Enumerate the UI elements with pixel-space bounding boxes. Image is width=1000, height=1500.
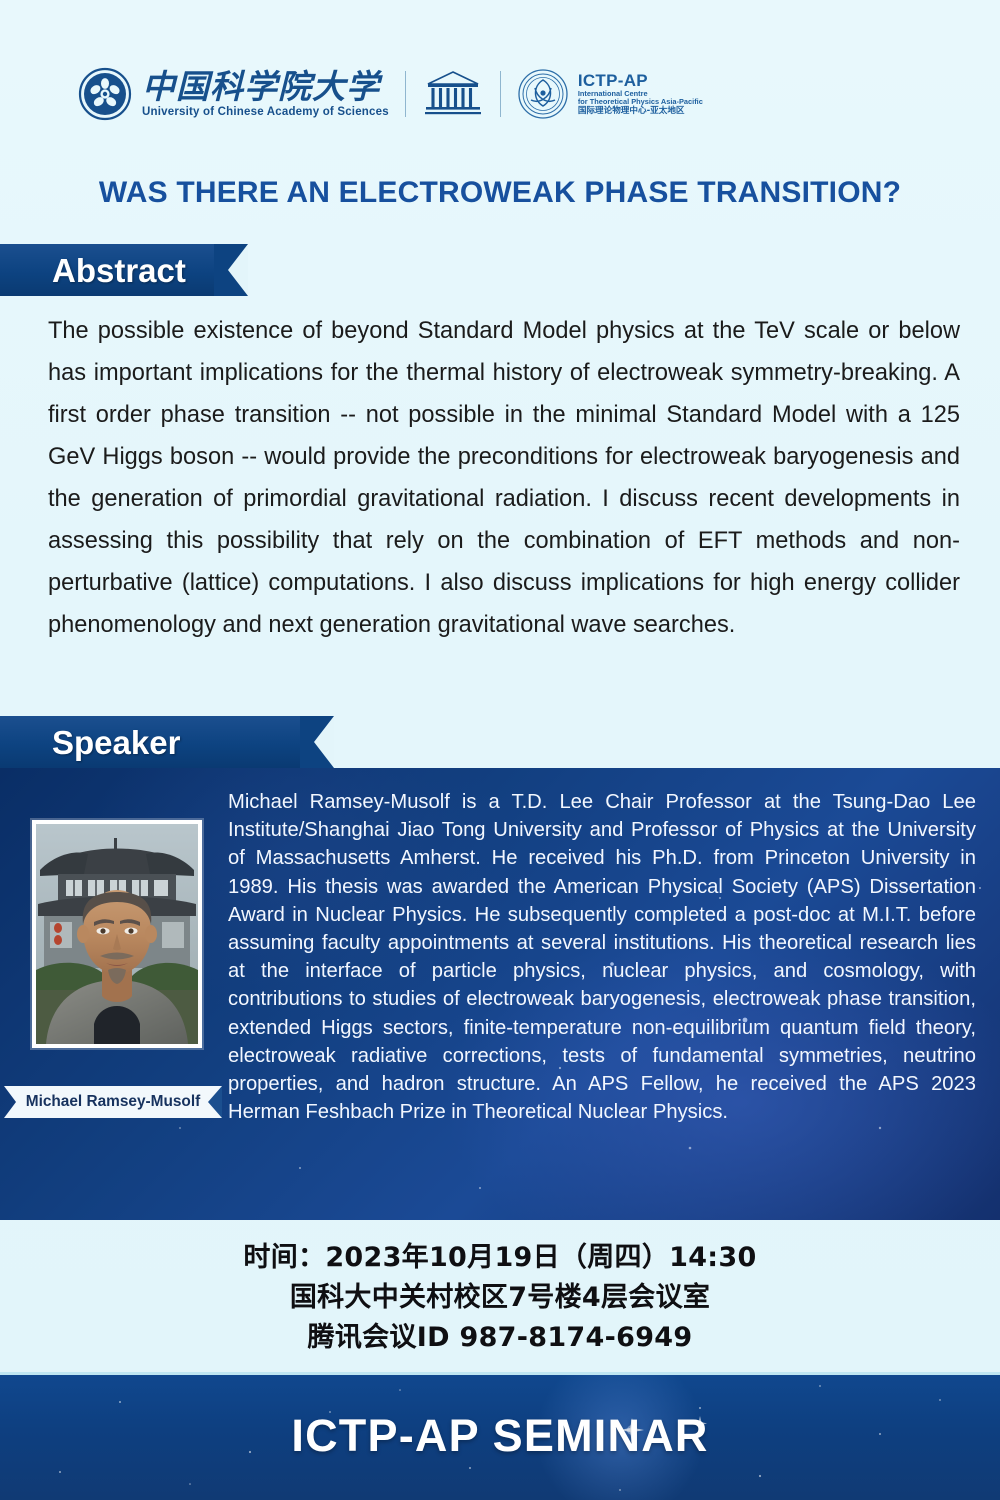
speaker-banner-label: Speaker — [0, 726, 180, 759]
footer-title: ICTP-AP SEMINAR — [0, 1372, 1000, 1500]
ucas-english-name: University of Chinese Academy of Science… — [142, 106, 389, 118]
ribbon-notch-icon — [300, 716, 334, 768]
footer-banner: ICTP-AP SEMINAR — [0, 1372, 1000, 1500]
logo-bar: 中国科学院大学 University of Chinese Academy of… — [78, 58, 703, 130]
abstract-text: The possible existence of beyond Standar… — [48, 310, 960, 646]
ucas-logo: 中国科学院大学 University of Chinese Academy of… — [78, 67, 389, 121]
abstract-banner-label: Abstract — [0, 254, 186, 287]
event-venue: 国科大中关村校区7号楼4层会议室 — [0, 1278, 1000, 1318]
speaker-banner: Speaker — [0, 716, 334, 768]
speaker-bio: Michael Ramsey-Musolf is a T.D. Lee Chai… — [228, 788, 976, 1126]
logo-divider-left — [405, 71, 406, 117]
abstract-banner: Abstract — [0, 244, 248, 296]
speaker-portrait — [36, 824, 198, 1044]
event-meeting-id: 腾讯会议ID 987-8174-6949 — [0, 1318, 1000, 1358]
unesco-temple-icon — [422, 67, 484, 121]
event-time: 时间：2023年10月19日（周四）14:30 — [0, 1238, 1000, 1278]
speaker-name: Michael Ramsey-Musolf — [26, 1093, 200, 1111]
ictp-ap-logo: ICTP-AP International Centre for Theoret… — [517, 68, 703, 120]
ucas-wordmark: 中国科学院大学 University of Chinese Academy of… — [142, 70, 389, 119]
ucas-seal-icon — [78, 67, 132, 121]
ictp-title: ICTP-AP — [578, 71, 703, 90]
ribbon-notch-icon — [208, 1086, 222, 1118]
speaker-name-ribbon: Michael Ramsey-Musolf — [4, 1086, 222, 1118]
speaker-photo-frame — [32, 820, 202, 1048]
ictp-chinese-name: 国际理论物理中心-亚太地区 — [578, 107, 703, 117]
page-title: WAS THERE AN ELECTROWEAK PHASE TRANSITIO… — [0, 176, 1000, 210]
event-details: 时间：2023年10月19日（周四）14:30 国科大中关村校区7号楼4层会议室… — [0, 1238, 1000, 1358]
logo-divider-right — [500, 71, 501, 117]
ictp-wordmark: ICTP-AP International Centre for Theoret… — [578, 71, 703, 117]
seminar-poster: 中国科学院大学 University of Chinese Academy of… — [0, 0, 1000, 1500]
speaker-section: Michael Ramsey-Musolf is a T.D. Lee Chai… — [0, 768, 1000, 1220]
ictp-seal-icon — [517, 68, 569, 120]
ribbon-notch-icon — [214, 244, 248, 296]
ucas-chinese-name: 中国科学院大学 — [142, 70, 389, 105]
